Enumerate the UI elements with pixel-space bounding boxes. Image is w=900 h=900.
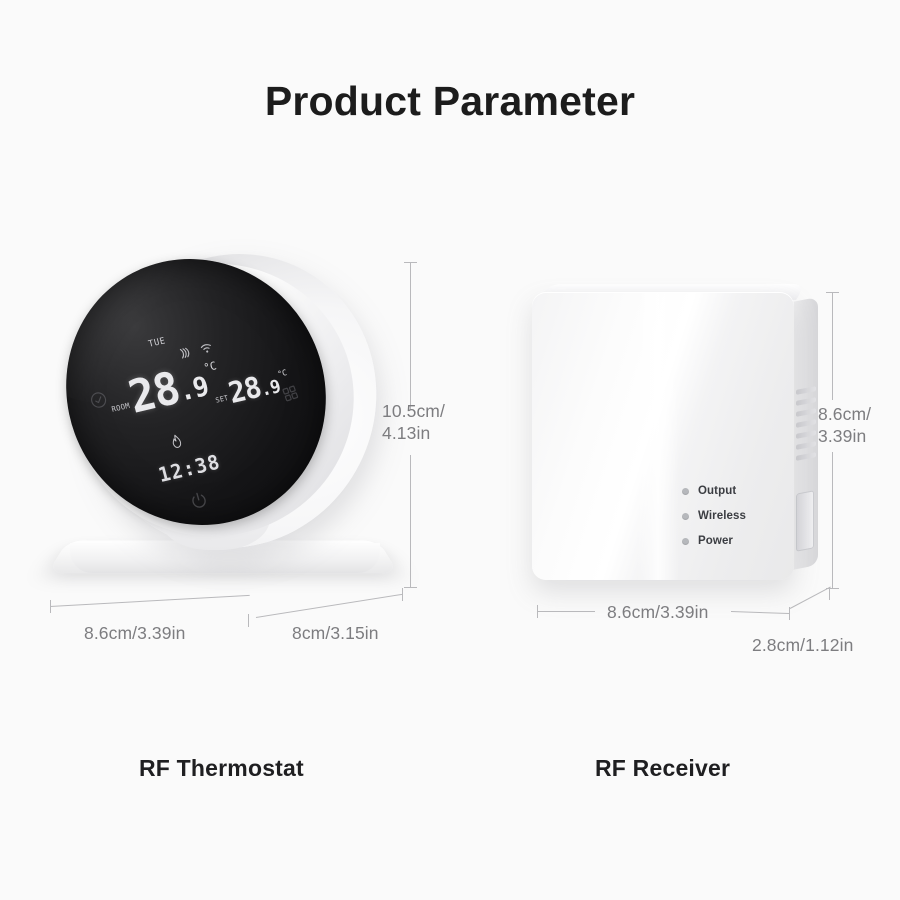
- thermostat-height-line-top: [410, 262, 411, 410]
- receiver-figure: Output Wireless Power: [520, 280, 850, 600]
- led-dot-icon: [682, 513, 689, 520]
- thermostat-depth-tick-right: [402, 588, 403, 601]
- receiver-port: [796, 490, 814, 551]
- flame-icon: [168, 433, 186, 453]
- lcd-room-label: ROOM: [111, 401, 131, 414]
- receiver-vent-slots: [796, 386, 816, 476]
- lcd-set-decimal: .9: [259, 378, 283, 400]
- vent-slot: [796, 397, 816, 406]
- indicator-label: Wireless: [698, 510, 746, 522]
- receiver-height-label: 8.6cm/ 3.39in: [818, 403, 871, 448]
- receiver-depth-label: 2.8cm/1.12in: [752, 634, 853, 656]
- indicator-label: Power: [698, 535, 733, 547]
- thermostat-width-tick-mid: [248, 614, 249, 627]
- thermostat-depth-label: 8cm/3.15in: [292, 622, 379, 644]
- receiver-width-line-right: [731, 611, 789, 614]
- vent-slot: [796, 419, 816, 428]
- vent-slot: [796, 441, 816, 450]
- led-dot-icon: [682, 488, 689, 495]
- thermostat-glass-face[interactable]: TUE ROOM: [41, 239, 350, 546]
- indicator-output: Output: [682, 485, 746, 497]
- thermostat-figure: TUE ROOM: [40, 250, 400, 600]
- thermostat-height-label: 10.5cm/ 4.13in: [382, 400, 445, 445]
- receiver-front-panel[interactable]: [532, 292, 794, 580]
- caption-rf-thermostat: RF Thermostat: [139, 755, 304, 782]
- led-dot-icon: [682, 538, 689, 545]
- lcd-set-label: SET: [215, 394, 230, 405]
- lcd-room-temperature: ROOM 28 .9 °C: [105, 359, 224, 422]
- lcd-weekday: TUE: [147, 336, 166, 350]
- thermostat-width-tick-left: [50, 600, 51, 613]
- receiver-height-line-top: [832, 292, 833, 400]
- panel-reflection: [637, 292, 679, 580]
- receiver-height-tick-top: [826, 292, 839, 293]
- receiver-width-label: 8.6cm/3.39in: [607, 601, 708, 623]
- lcd-room-unit: °C: [202, 359, 218, 374]
- lcd-set-unit: °C: [277, 368, 288, 379]
- vent-slot: [796, 408, 816, 417]
- lcd-status-icons: [176, 340, 214, 362]
- receiver-width-line: [537, 611, 595, 612]
- thermostat-height-tick-top: [404, 262, 417, 263]
- vent-slot: [796, 430, 816, 439]
- receiver-depth-tick: [829, 587, 830, 600]
- vent-slot: [796, 452, 816, 461]
- heat-waves-icon: [176, 345, 193, 362]
- wifi-icon: [198, 340, 215, 357]
- caption-rf-receiver: RF Receiver: [595, 755, 730, 782]
- thermostat-height-tick-bottom: [404, 587, 417, 588]
- lcd-clock: 12:38: [156, 450, 223, 487]
- receiver-width-tick-left: [537, 605, 538, 618]
- lcd-room-decimal: .9: [176, 373, 211, 406]
- indicator-label: Output: [698, 485, 736, 497]
- lcd-room-value: 28: [125, 369, 183, 418]
- thermostat-width-label: 8.6cm/3.39in: [84, 622, 185, 644]
- indicator-power: Power: [682, 535, 746, 547]
- indicator-wireless: Wireless: [682, 510, 746, 522]
- thermostat-height-line-bottom: [410, 455, 411, 587]
- receiver-height-line-bottom: [832, 452, 833, 588]
- page-title: Product Parameter: [0, 78, 900, 125]
- receiver-indicator-list: Output Wireless Power: [682, 485, 746, 560]
